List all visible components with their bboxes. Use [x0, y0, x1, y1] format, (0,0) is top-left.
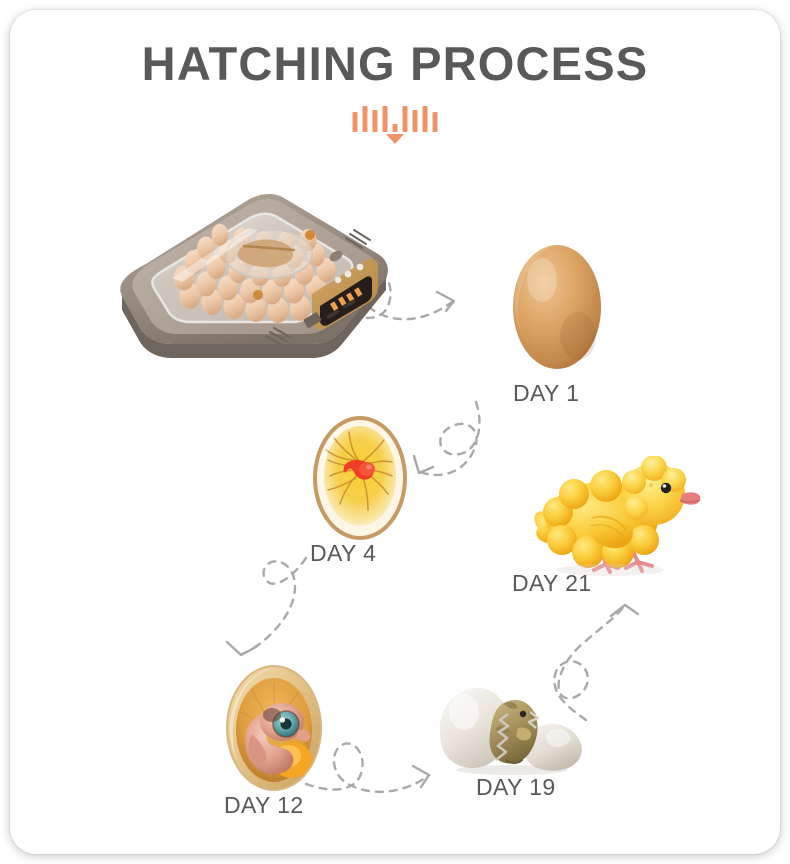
stage-label-day12: DAY 12	[224, 792, 304, 819]
decoration-bar-3	[373, 110, 378, 132]
egg-incubator-image	[98, 178, 398, 368]
title-decoration	[10, 104, 780, 150]
decoration-bar-8	[423, 106, 428, 132]
decoration-bar-5	[393, 124, 398, 132]
egg-embryo-day12-image	[210, 660, 338, 796]
stage-day1: DAY 1	[476, 232, 636, 412]
stage-label-day1: DAY 1	[513, 380, 579, 407]
arrowhead-to-day1	[437, 292, 454, 311]
yellow-chick-image	[514, 456, 704, 578]
arrowhead-to-day19	[413, 766, 429, 787]
stage-label-day19: DAY 19	[476, 774, 556, 801]
decoration-bar-6	[403, 106, 408, 132]
stage-day12: DAY 12	[196, 660, 356, 830]
hatching-egg-image	[432, 676, 602, 776]
decoration-bar-1	[353, 112, 358, 132]
decoration-bar-7	[413, 110, 418, 132]
arrowhead-to-day12	[227, 642, 256, 655]
decoration-bar-9	[433, 112, 438, 132]
egg-embryo-day4-image	[300, 412, 420, 544]
page-title: HATCHING PROCESS	[10, 36, 780, 91]
decoration-bar-2	[363, 106, 368, 132]
stage-day4: DAY 4	[286, 412, 436, 580]
stage-label-day4: DAY 4	[310, 540, 376, 567]
triangle-down-icon	[386, 134, 404, 144]
brown-egg-image	[492, 232, 622, 382]
stage-incubator	[98, 178, 398, 368]
bar-marks-decoration	[353, 104, 438, 132]
stage-day21: DAY 21	[504, 470, 704, 605]
stage-day19: DAY 19	[430, 678, 605, 813]
stage-label-day21: DAY 21	[512, 570, 592, 597]
infographic-card: HATCHING PROCESS	[10, 10, 780, 854]
arrowhead-to-day21	[611, 605, 638, 616]
decoration-bar-4	[383, 106, 388, 132]
